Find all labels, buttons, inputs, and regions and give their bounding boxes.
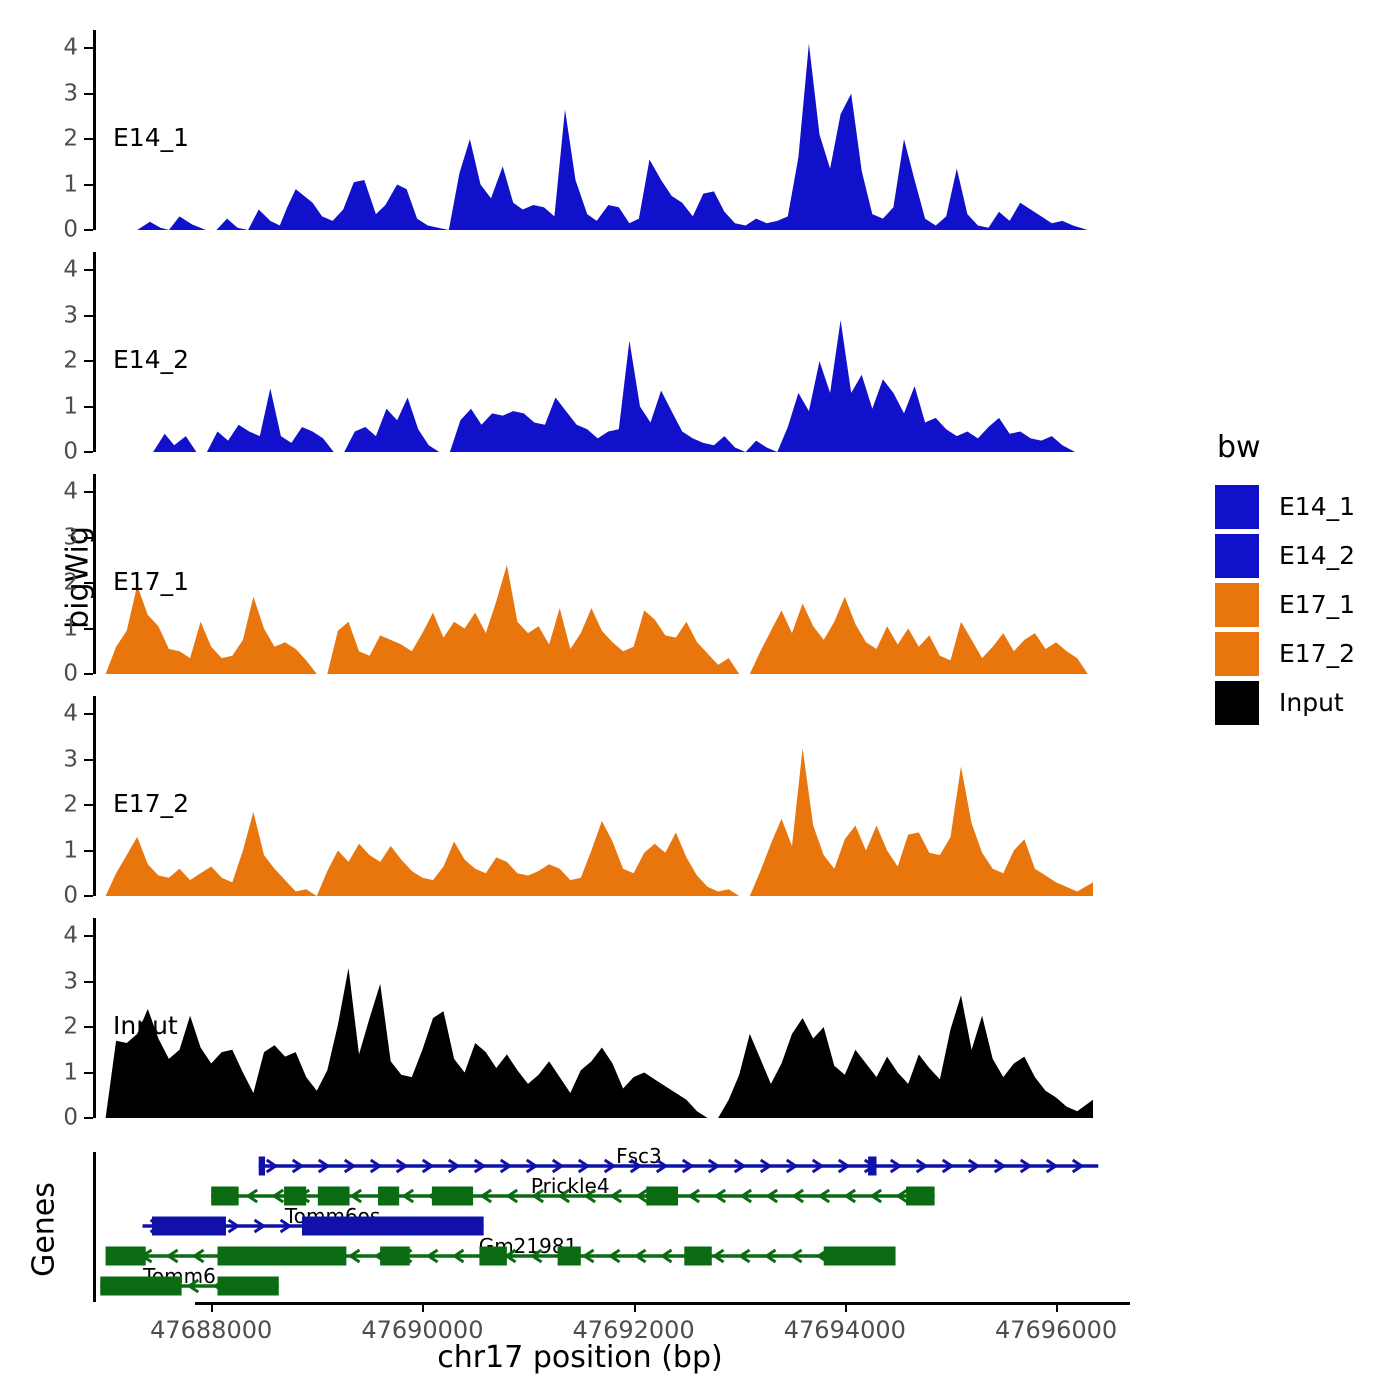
- signal-path: [106, 748, 1093, 896]
- y-tick-label: 0: [63, 885, 78, 908]
- gene-exon: [106, 1247, 146, 1266]
- y-tick-label: 3: [63, 82, 78, 105]
- x-tick-mark: [845, 1302, 847, 1312]
- x-axis-title: chr17 position (bp): [0, 1340, 1160, 1375]
- gene-exon: [218, 1247, 347, 1266]
- x-tick-label: 47688000: [150, 1316, 272, 1344]
- y-tick-label: 3: [63, 526, 78, 549]
- gene-exon: [646, 1187, 678, 1206]
- legend-swatch: [1215, 534, 1259, 578]
- track-label-e14_2: E14_2: [113, 345, 189, 374]
- y-tick-label: 1: [63, 617, 78, 640]
- y-tick-label: 3: [63, 304, 78, 327]
- legend: bw E14_1E14_2E17_1E17_2Input: [1215, 430, 1395, 728]
- y-tick-label: 4: [63, 259, 78, 282]
- x-tick-mark: [634, 1302, 636, 1312]
- signal-path: [106, 565, 1088, 674]
- gene-exon: [218, 1277, 279, 1296]
- y-tick-mark: [84, 1117, 93, 1119]
- y-tick-label: 0: [63, 1107, 78, 1130]
- gene-exon: [378, 1187, 399, 1206]
- track-label-input: Input: [113, 1011, 178, 1040]
- y-tick-label: 0: [63, 663, 78, 686]
- y-tick-label: 2: [63, 572, 78, 595]
- y-tick-mark: [84, 850, 93, 852]
- signal-path: [106, 968, 1093, 1118]
- x-axis-line: [195, 1302, 1130, 1305]
- y-tick-mark: [84, 451, 93, 453]
- y-tick-mark: [84, 1026, 93, 1028]
- y-tick-mark: [84, 895, 93, 897]
- y-tick-mark: [84, 759, 93, 761]
- y-tick-mark: [84, 406, 93, 408]
- gene-exon: [824, 1247, 896, 1266]
- y-tick-label: 2: [63, 128, 78, 151]
- legend-item-e14_1[interactable]: E14_1: [1215, 483, 1395, 530]
- signal-area-e14_2: [95, 252, 1130, 452]
- y-tick-mark: [84, 981, 93, 983]
- x-tick-label: 47692000: [573, 1316, 695, 1344]
- y-tick-mark: [84, 269, 93, 271]
- y-tick-label: 1: [63, 395, 78, 418]
- legend-item-e17_2[interactable]: E17_2: [1215, 630, 1395, 677]
- x-tick-label: 47696000: [995, 1316, 1117, 1344]
- legend-swatch: [1215, 485, 1259, 529]
- track-label-e17_1: E17_1: [113, 567, 189, 596]
- y-tick-label: 1: [63, 1061, 78, 1084]
- y-tick-mark: [84, 138, 93, 140]
- track-panel-e17_2: [95, 696, 1130, 896]
- gene-exon: [906, 1187, 935, 1206]
- gene-exon: [684, 1247, 711, 1266]
- legend-label: E17_1: [1279, 590, 1355, 619]
- gene-exon: [100, 1277, 181, 1296]
- legend-item-e14_2[interactable]: E14_2: [1215, 532, 1395, 579]
- gene-tomm6os[interactable]: [143, 1217, 484, 1236]
- legend-swatch: [1215, 681, 1259, 725]
- legend-swatch: [1215, 632, 1259, 676]
- y-tick-label: 2: [63, 350, 78, 373]
- legend-label: E17_2: [1279, 639, 1355, 668]
- legend-label: E14_2: [1279, 541, 1355, 570]
- track-panel-input: [95, 918, 1130, 1118]
- x-tick-label: 47690000: [361, 1316, 483, 1344]
- gene-exon: [558, 1247, 581, 1266]
- y-tick-label: 2: [63, 1016, 78, 1039]
- y-tick-label: 4: [63, 703, 78, 726]
- gene-models: [0, 1150, 1400, 1310]
- y-tick-mark: [84, 360, 93, 362]
- gene-exon: [380, 1247, 410, 1266]
- signal-area-e17_2: [95, 696, 1130, 896]
- legend-item-input[interactable]: Input: [1215, 679, 1395, 726]
- gene-tomm6[interactable]: [100, 1277, 278, 1296]
- gene-exon: [868, 1157, 876, 1176]
- track-panel-e17_1: [95, 474, 1130, 674]
- legend-label: E14_1: [1279, 492, 1355, 521]
- y-tick-label: 3: [63, 748, 78, 771]
- y-tick-mark: [84, 713, 93, 715]
- track-panel-e14_1: [95, 30, 1130, 230]
- gene-fscn3[interactable]: [259, 1157, 1099, 1176]
- y-tick-label: 4: [63, 925, 78, 948]
- track-panel-e14_2: [95, 252, 1130, 452]
- y-tick-mark: [84, 229, 93, 231]
- y-tick-label: 1: [63, 839, 78, 862]
- y-tick-label: 4: [63, 37, 78, 60]
- gene-exon: [432, 1187, 473, 1206]
- x-tick-label: 47694000: [784, 1316, 906, 1344]
- y-tick-mark: [84, 1072, 93, 1074]
- signal-path: [153, 320, 1075, 452]
- y-tick-mark: [84, 184, 93, 186]
- legend-label: Input: [1279, 688, 1344, 717]
- x-tick-mark: [1056, 1302, 1058, 1312]
- y-tick-label: 0: [63, 219, 78, 242]
- legend-title: bw: [1217, 430, 1395, 465]
- x-tick-mark: [211, 1302, 213, 1312]
- legend-item-e17_1[interactable]: E17_1: [1215, 581, 1395, 628]
- y-tick-mark: [84, 315, 93, 317]
- gene-prickle4[interactable]: [211, 1187, 934, 1206]
- y-tick-label: 3: [63, 970, 78, 993]
- gene-exon: [318, 1187, 350, 1206]
- y-tick-mark: [84, 93, 93, 95]
- y-tick-label: 0: [63, 441, 78, 464]
- legend-items: E14_1E14_2E17_1E17_2Input: [1215, 483, 1395, 726]
- gene-exon: [152, 1217, 226, 1236]
- track-label-e14_1: E14_1: [113, 123, 189, 152]
- gene-exon: [211, 1187, 238, 1206]
- y-tick-label: 1: [63, 173, 78, 196]
- y-tick-label: 4: [63, 481, 78, 504]
- y-tick-mark: [84, 673, 93, 675]
- y-tick-mark: [84, 628, 93, 630]
- signal-area-e14_1: [95, 30, 1130, 230]
- y-tick-label: 2: [63, 794, 78, 817]
- legend-swatch: [1215, 583, 1259, 627]
- signal-area-e17_1: [95, 474, 1130, 674]
- y-tick-mark: [84, 47, 93, 49]
- signal-path: [137, 44, 1088, 230]
- gene-exon: [259, 1157, 265, 1176]
- gene-exon: [479, 1247, 506, 1266]
- gene-exon: [302, 1217, 484, 1236]
- y-tick-mark: [84, 935, 93, 937]
- y-tick-mark: [84, 804, 93, 806]
- y-tick-mark: [84, 582, 93, 584]
- y-tick-mark: [84, 491, 93, 493]
- y-tick-mark: [84, 537, 93, 539]
- x-tick-mark: [422, 1302, 424, 1312]
- track-label-e17_2: E17_2: [113, 789, 189, 818]
- gene-gm21981[interactable]: [106, 1247, 896, 1266]
- signal-area-input: [95, 918, 1130, 1118]
- gene-exon: [284, 1187, 306, 1206]
